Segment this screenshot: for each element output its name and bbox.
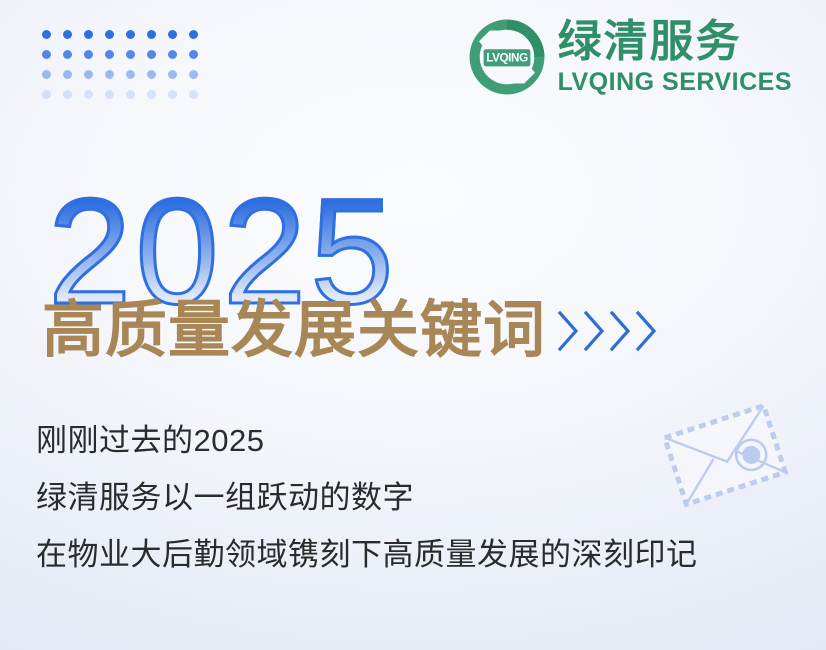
- dot: [105, 50, 114, 59]
- brand-logo: LVQING 绿清服务 LVQING SERVICES: [468, 18, 792, 96]
- body-line: 绿清服务以一组跃动的数字: [36, 481, 698, 515]
- dot: [105, 70, 114, 79]
- dot: [126, 50, 135, 59]
- chevron-right-icon-group: [556, 307, 660, 355]
- chevron-right-icon: [634, 307, 660, 355]
- dot: [42, 70, 51, 79]
- dot: [84, 50, 93, 59]
- dot: [84, 70, 93, 79]
- poster-canvas: LVQING 绿清服务 LVQING SERVICES 2025 高质量发展关键…: [0, 0, 826, 650]
- dot: [168, 90, 177, 99]
- dot: [168, 70, 177, 79]
- dot: [189, 50, 198, 59]
- dot: [189, 30, 198, 39]
- dot: [42, 30, 51, 39]
- dot: [84, 90, 93, 99]
- dot-grid-decoration: [42, 30, 210, 110]
- dot: [126, 70, 135, 79]
- dot: [63, 90, 72, 99]
- chevron-right-icon: [608, 307, 634, 355]
- chevron-right-icon: [582, 307, 608, 355]
- headline-row: 高质量发展关键词: [42, 300, 660, 362]
- dot: [168, 50, 177, 59]
- dot: [189, 70, 198, 79]
- page-title: 高质量发展关键词: [42, 300, 546, 362]
- dot: [84, 30, 93, 39]
- chevron-right-icon: [556, 307, 582, 355]
- dot: [105, 90, 114, 99]
- dot: [63, 30, 72, 39]
- brand-name-en: LVQING SERVICES: [558, 70, 792, 95]
- body-line: 在物业大后勤领域镌刻下高质量发展的深刻印记: [36, 538, 698, 572]
- dot: [189, 90, 198, 99]
- dot: [147, 70, 156, 79]
- dot: [126, 30, 135, 39]
- body-line: 刚刚过去的2025: [36, 424, 698, 458]
- brand-name-cn: 绿清服务: [558, 20, 792, 64]
- dot: [42, 90, 51, 99]
- dot: [147, 30, 156, 39]
- body-copy: 刚刚过去的2025 绿清服务以一组跃动的数字 在物业大后勤领域镌刻下高质量发展的…: [36, 424, 698, 572]
- dot: [168, 30, 177, 39]
- dot: [63, 50, 72, 59]
- dot: [147, 90, 156, 99]
- dot: [42, 50, 51, 59]
- logo-inner-text: LVQING: [486, 52, 528, 65]
- dot: [63, 70, 72, 79]
- dot: [105, 30, 114, 39]
- dot: [147, 50, 156, 59]
- brand-wordmark: 绿清服务 LVQING SERVICES: [558, 20, 792, 95]
- dot: [126, 90, 135, 99]
- lvqing-recycle-logo-icon: LVQING: [468, 18, 546, 96]
